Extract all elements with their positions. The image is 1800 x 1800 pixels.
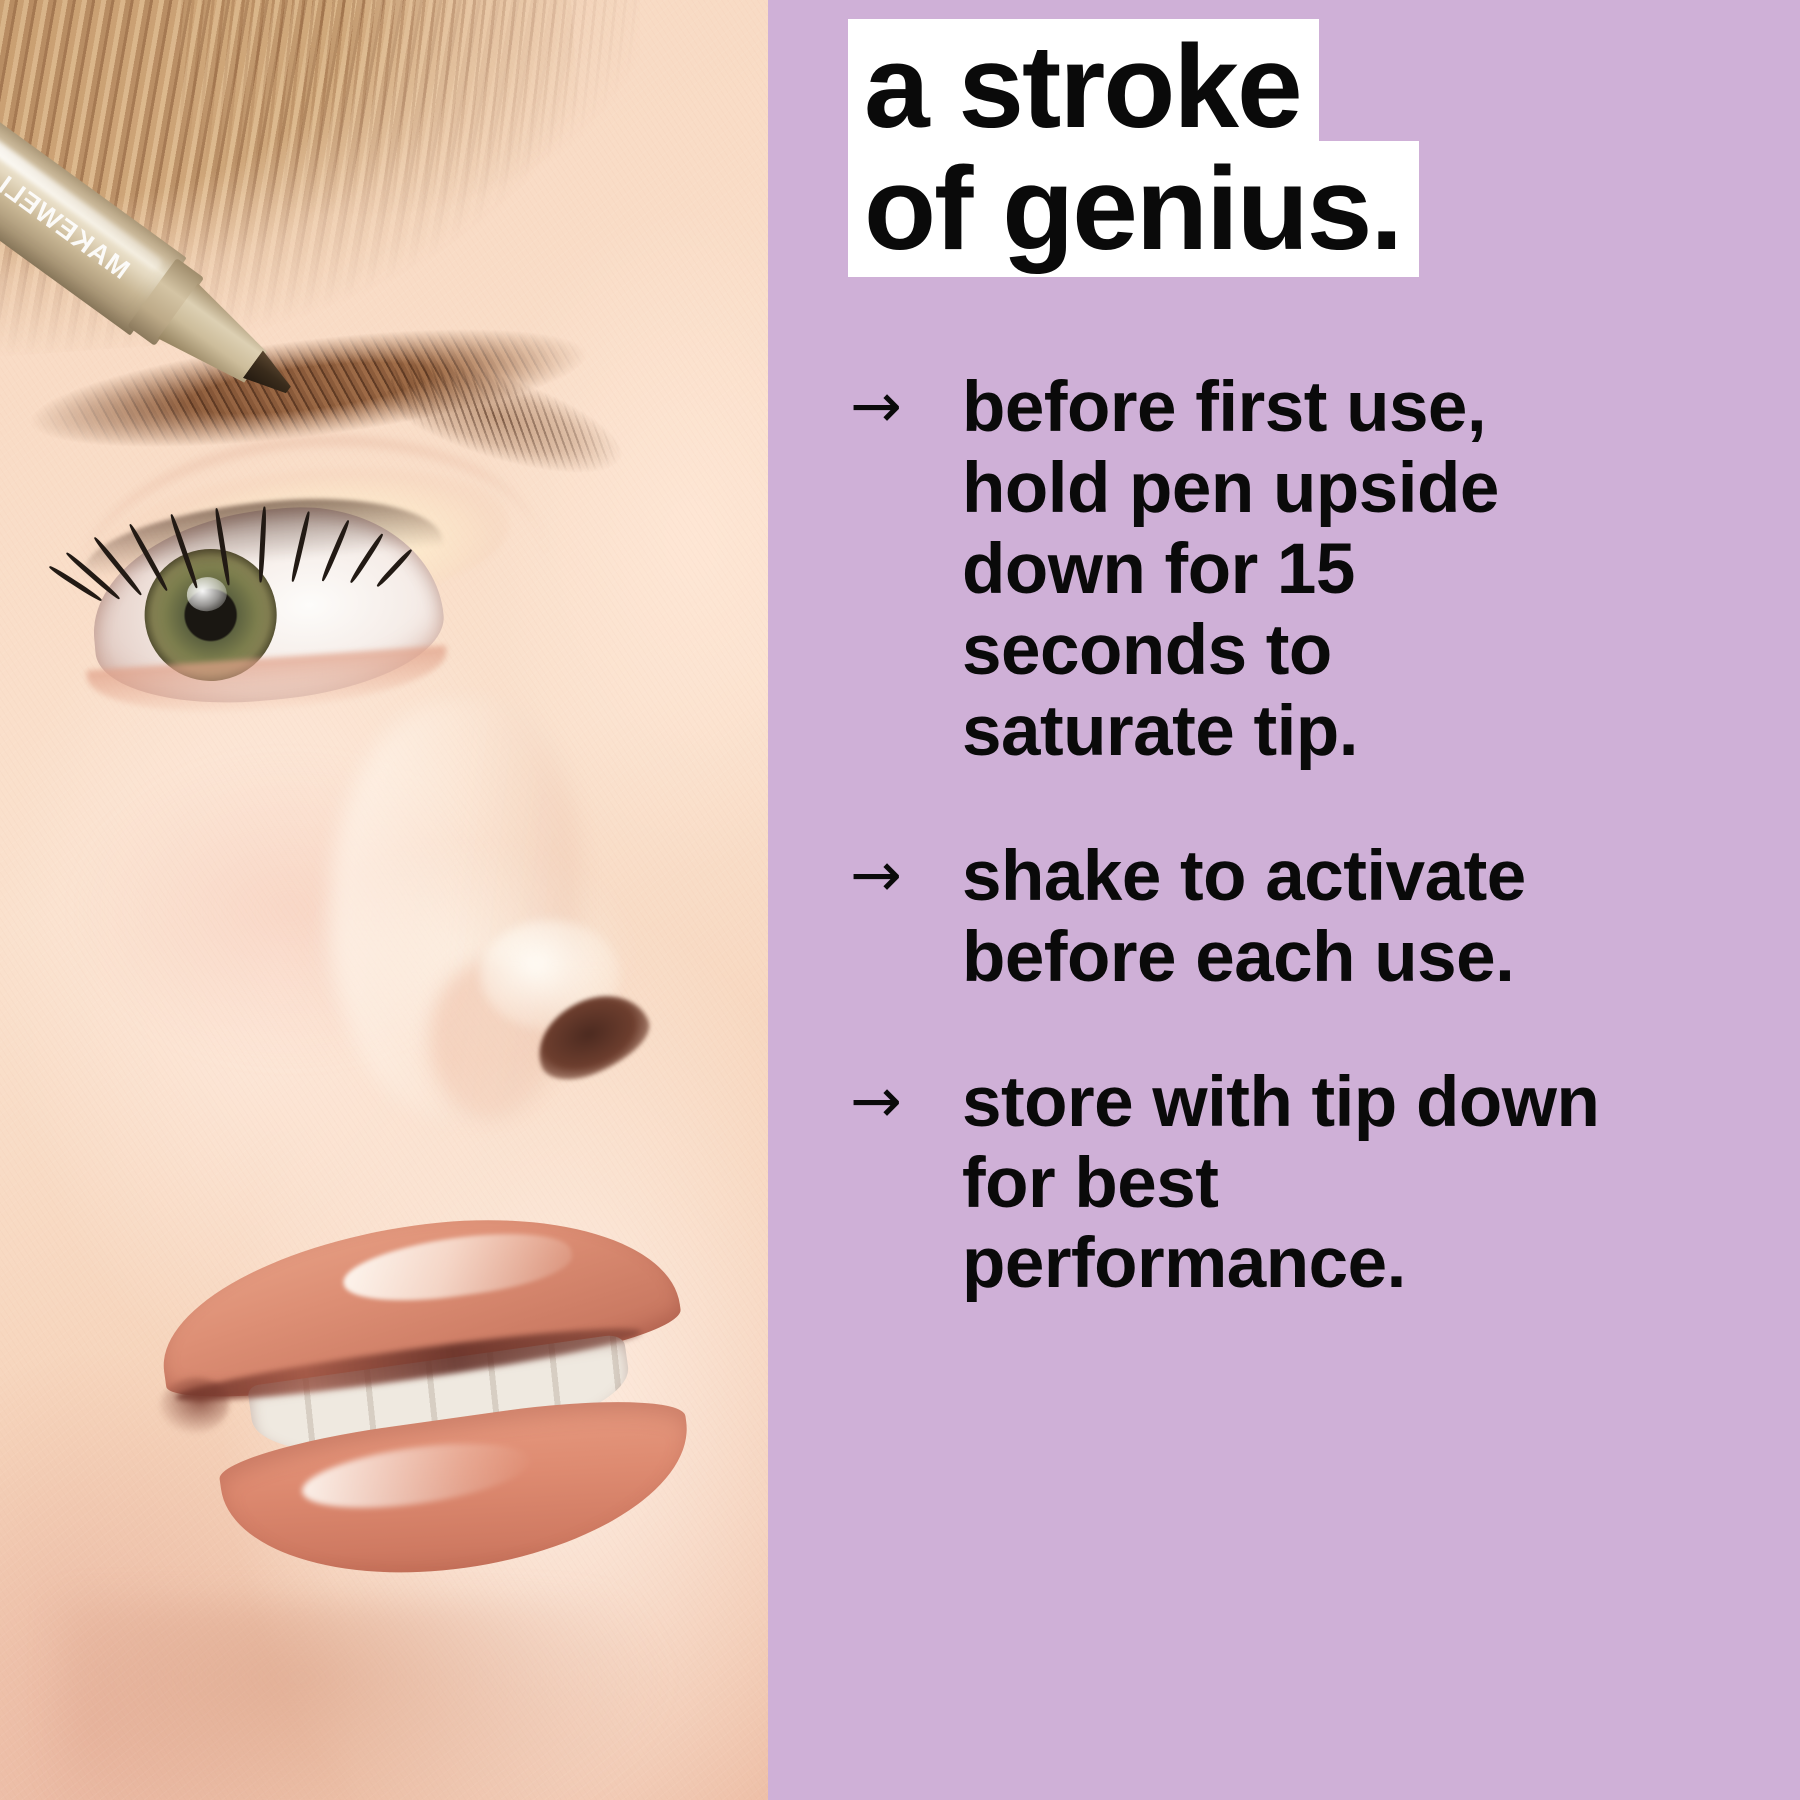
list-item: → before first use, hold pen upside down… — [768, 368, 1800, 773]
instruction-text: shake to activate before each use. — [962, 837, 1602, 999]
info-panel: a stroke of genius. → before first use, … — [768, 0, 1800, 1800]
instruction-text: store with tip down for best performance… — [962, 1063, 1602, 1306]
headline-line-2: of genius. — [848, 150, 1419, 268]
instructions-list: → before first use, hold pen upside down… — [768, 368, 1800, 1369]
instruction-text: before first use, hold pen upside down f… — [962, 368, 1602, 773]
lips — [105, 1155, 755, 1635]
chin-shadow — [60, 1600, 760, 1800]
ad-creative-canvas: MAKEWELL a stroke of genius. → before fi… — [0, 0, 1800, 1800]
hair-strands — [180, 0, 640, 220]
headline-line-1-text: a stroke — [848, 19, 1319, 155]
list-item: → store with tip down for best performan… — [768, 1063, 1800, 1306]
headline-line-1: a stroke — [848, 28, 1319, 146]
arrow-right-icon: → — [850, 837, 962, 906]
arrow-right-icon: → — [850, 1063, 962, 1132]
arrow-right-icon: → — [850, 368, 962, 437]
list-item: → shake to activate before each use. — [768, 837, 1800, 999]
product-photo: MAKEWELL — [0, 0, 768, 1800]
headline-line-2-text: of genius. — [848, 141, 1419, 277]
